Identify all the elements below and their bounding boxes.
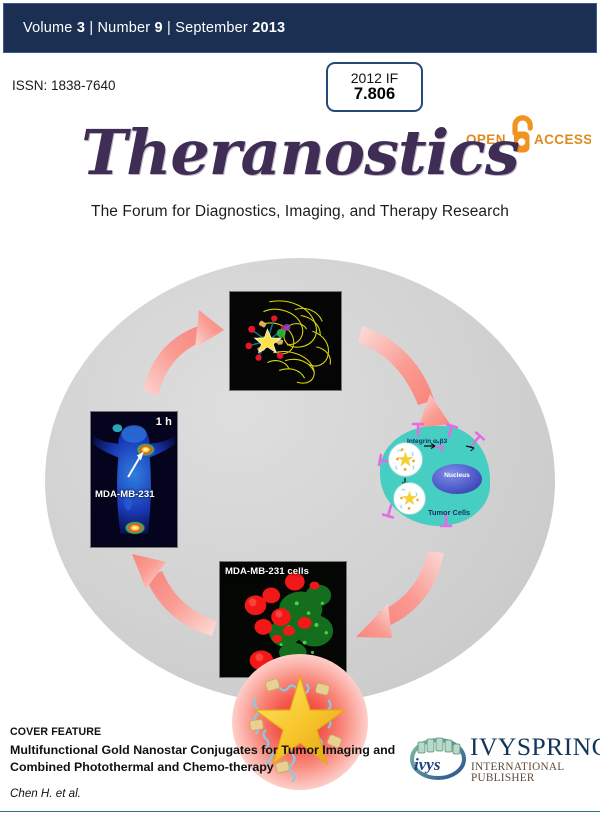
arrow-bottom-to-left: [132, 554, 217, 636]
publisher-logo: ivys IVYSPRING INTERNATIONAL PUBLISHER: [408, 734, 593, 792]
tumor-cell-diagram: Nucleus Tumor Cells Integrin αᵥβ3: [374, 420, 496, 532]
volume-number: 3: [77, 20, 85, 36]
separator-1: |: [89, 20, 93, 36]
impact-factor-value: 7.806: [354, 86, 395, 104]
mini-nanostar-icon: [402, 491, 417, 506]
month-label: September: [175, 20, 248, 36]
svg-text:ivys: ivys: [414, 755, 441, 774]
in-vivo-fluorescence-panel: 1 h MDA-MB-231: [90, 411, 178, 548]
impact-factor-badge: 2012 IF 7.806: [326, 62, 423, 112]
cover-feature-title: Multifunctional Gold Nanostar Conjugates…: [10, 742, 420, 775]
protein-structure-panel: [229, 291, 342, 391]
journal-tagline: The Forum for Diagnostics, Imaging, and …: [0, 203, 600, 221]
publisher-subtitle: INTERNATIONAL PUBLISHER: [471, 762, 593, 784]
cover-figure: 1 h MDA-MB-231: [0, 248, 600, 716]
arrow-left-to-top: [143, 310, 224, 396]
impact-factor-year: 2012 IF: [351, 71, 398, 86]
nucleus-label: Nucleus: [432, 472, 482, 479]
separator-2: |: [167, 20, 171, 36]
integrin-label: Integrin αᵥβ3: [407, 438, 447, 445]
number-value: 9: [155, 20, 163, 36]
journal-title: Theranostics: [0, 122, 600, 184]
cover-feature-authors: Chen H. et al.: [10, 787, 81, 800]
cover-feature-kicker: COVER FEATURE: [10, 726, 101, 738]
arrow-right-to-bottom: [356, 551, 444, 638]
in-vivo-tumor-label: MDA-MB-231: [95, 489, 155, 500]
number-label: Number: [98, 20, 151, 36]
cell-panel-label: MDA-MB-231 cells: [225, 566, 309, 577]
issue-header-bar: Volume 3 | Number 9 | September 2013: [3, 3, 597, 53]
issn-text: ISSN: 1838-7640: [12, 78, 116, 93]
publisher-name: IVYSPRING: [470, 734, 600, 760]
arrow-top-to-right: [358, 326, 450, 428]
endosome-vesicle-top: [388, 442, 423, 477]
ivyspring-logo-icon: ivys: [408, 734, 468, 784]
meta-row: ISSN: 1838-7640 2012 IF 7.806 OPEN ACCES…: [0, 56, 600, 118]
endosome-vesicle-bottom: [393, 482, 426, 515]
issue-line: Volume 3 | Number 9 | September 2013: [4, 20, 285, 36]
year-label: 2013: [252, 20, 285, 36]
volume-label: Volume: [23, 20, 73, 36]
cell-nucleus: [432, 464, 482, 494]
footer-divider: [0, 811, 600, 812]
mini-nanostar-icon: [397, 451, 413, 466]
cover-footer: COVER FEATURE Multifunctional Gold Nanos…: [0, 724, 600, 825]
title-block: Theranostics The Forum for Diagnostics, …: [0, 122, 600, 221]
in-vivo-time-label: 1 h: [156, 416, 172, 428]
tumor-cells-label: Tumor Cells: [428, 508, 470, 517]
